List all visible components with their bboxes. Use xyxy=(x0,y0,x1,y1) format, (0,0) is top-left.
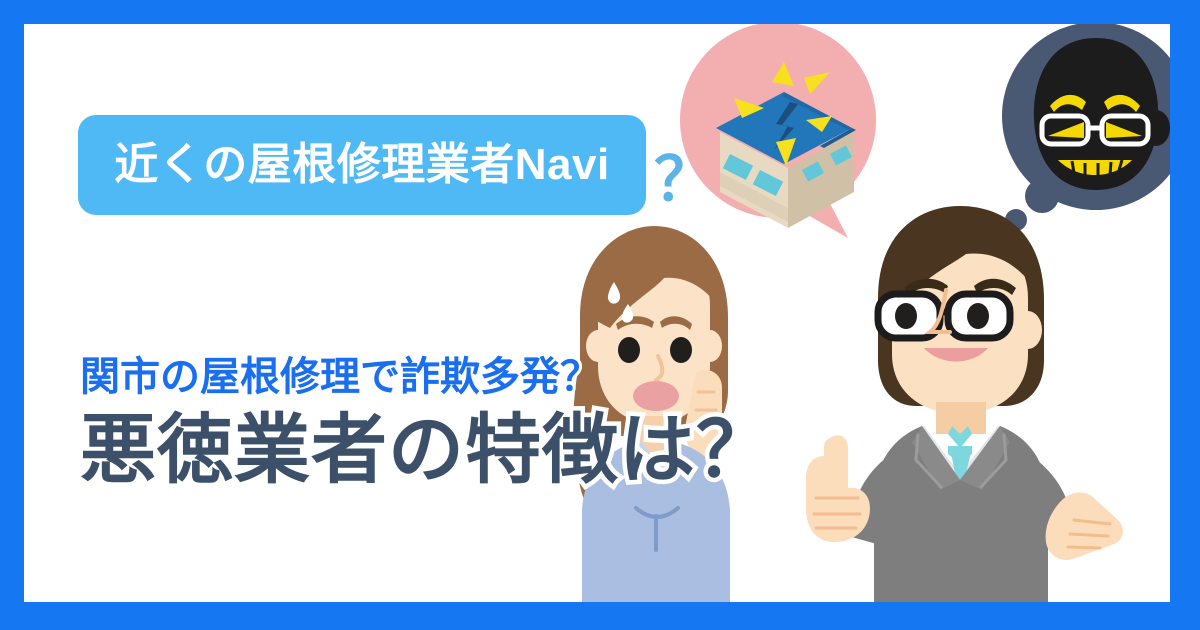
brand-badge-label: 近くの屋根修理業者Navi xyxy=(114,143,609,187)
headline-block: 関市の屋根修理で詐欺多発？ 悪徳業者の特徴は？ xyxy=(80,354,820,493)
banner-frame: 近くの屋根修理業者Navi ？ 関市の屋根修理で詐欺多発？ 悪徳業者の特徴は？ xyxy=(0,0,1200,630)
villain-thought-bubble xyxy=(990,24,1170,230)
banner-canvas: 近くの屋根修理業者Navi ？ 関市の屋根修理で詐欺多発？ 悪徳業者の特徴は？ xyxy=(24,24,1170,602)
headline-title: 悪徳業者の特徴は？ xyxy=(80,408,820,493)
headline-subtitle: 関市の屋根修理で詐欺多発？ xyxy=(80,354,820,400)
advisor-businessman-illustration xyxy=(800,202,1130,602)
brand-badge[interactable]: 近くの屋根修理業者Navi xyxy=(78,115,646,215)
